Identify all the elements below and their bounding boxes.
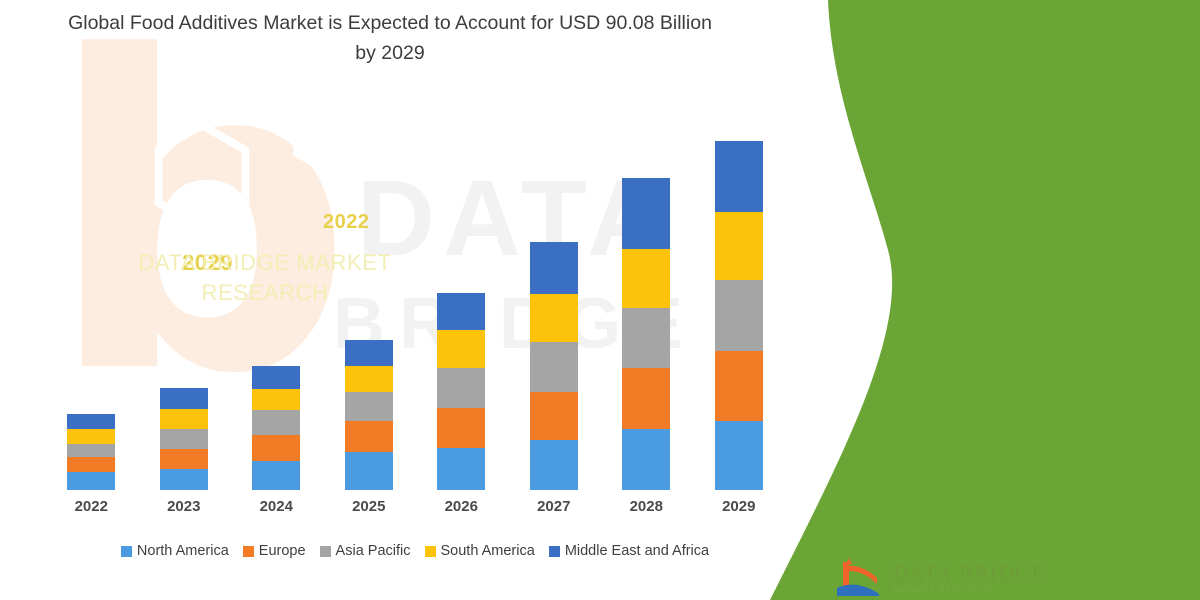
x-axis-tick: 2025 bbox=[329, 498, 409, 515]
legend-item[interactable]: North America bbox=[121, 543, 229, 559]
bar-column bbox=[530, 242, 578, 490]
bar-segment bbox=[67, 429, 115, 444]
logo-tagline: MARKET RESEARCH bbox=[893, 584, 993, 594]
legend-item[interactable]: South America bbox=[425, 543, 535, 559]
x-axis-tick: 2023 bbox=[144, 498, 224, 515]
bar-segment bbox=[252, 366, 300, 388]
chart-legend: North AmericaEuropeAsia PacificSouth Ame… bbox=[45, 540, 785, 562]
bar-segment bbox=[437, 408, 485, 448]
x-axis-tick: 2029 bbox=[699, 498, 779, 515]
x-axis-tick: 2027 bbox=[514, 498, 594, 515]
data-bridge-logo: DATA BRIDGE MARKET RESEARCH bbox=[835, 556, 1085, 598]
bar-column bbox=[437, 293, 485, 490]
legend-item[interactable]: Asia Pacific bbox=[320, 543, 411, 559]
bar-segment bbox=[67, 414, 115, 429]
legend-label: South America bbox=[441, 543, 535, 559]
bar-segment bbox=[345, 452, 393, 490]
bar-column bbox=[345, 340, 393, 490]
x-axis-tick: 2028 bbox=[606, 498, 686, 515]
bar-segment bbox=[67, 457, 115, 472]
x-axis-labels: 20222023202420252026202720282029 bbox=[45, 498, 785, 522]
legend-label: Europe bbox=[259, 543, 306, 559]
bar-segment bbox=[530, 440, 578, 490]
bar-segment bbox=[252, 389, 300, 411]
bar-segment bbox=[160, 388, 208, 410]
bar-segment bbox=[622, 178, 670, 249]
page-title: Global Food Additives Market is Expected… bbox=[60, 8, 720, 68]
legend-item[interactable]: Middle East and Africa bbox=[549, 543, 709, 559]
bar-segment bbox=[160, 429, 208, 449]
bar-segment bbox=[252, 435, 300, 461]
green-panel-shape bbox=[770, 0, 1200, 600]
bar-column bbox=[67, 414, 115, 490]
bar-segment bbox=[437, 368, 485, 408]
bar-column bbox=[622, 178, 670, 490]
bar-segment bbox=[345, 392, 393, 421]
bar-column bbox=[252, 366, 300, 490]
legend-swatch-icon bbox=[243, 546, 254, 557]
bar-segment bbox=[715, 212, 763, 281]
bar-segment bbox=[530, 242, 578, 294]
bar-segment bbox=[160, 469, 208, 490]
bar-column bbox=[715, 141, 763, 490]
infographic-canvas: b DATA BRIDGE Global Food Additives Mark… bbox=[0, 0, 1200, 600]
green-side-panel bbox=[770, 0, 1200, 600]
legend-label: North America bbox=[137, 543, 229, 559]
stacked-bar-chart bbox=[45, 120, 785, 490]
bar-segment bbox=[715, 280, 763, 351]
legend-swatch-icon bbox=[549, 546, 560, 557]
bar-segment bbox=[437, 330, 485, 368]
x-axis-tick: 2026 bbox=[421, 498, 501, 515]
x-axis-tick: 2022 bbox=[51, 498, 131, 515]
bar-segment bbox=[622, 249, 670, 308]
bar-segment bbox=[622, 308, 670, 369]
bar-segment bbox=[715, 351, 763, 421]
bar-segment bbox=[160, 449, 208, 470]
legend-item[interactable]: Europe bbox=[243, 543, 306, 559]
bar-segment bbox=[67, 472, 115, 490]
bar-segment bbox=[530, 294, 578, 342]
bar-segment bbox=[437, 293, 485, 329]
legend-label: Asia Pacific bbox=[336, 543, 411, 559]
bar-column bbox=[160, 388, 208, 490]
bar-segment bbox=[160, 409, 208, 429]
legend-swatch-icon bbox=[121, 546, 132, 557]
bar-segment bbox=[622, 368, 670, 429]
bar-segment bbox=[345, 340, 393, 366]
bar-segment bbox=[345, 366, 393, 393]
bridge-logo-icon bbox=[835, 556, 887, 596]
x-axis-tick: 2024 bbox=[236, 498, 316, 515]
bar-segment bbox=[252, 461, 300, 490]
legend-label: Middle East and Africa bbox=[565, 543, 709, 559]
bar-segment bbox=[67, 444, 115, 458]
bar-segment bbox=[622, 429, 670, 490]
logo-wordmark: DATA BRIDGE bbox=[893, 561, 1046, 586]
bar-segment bbox=[530, 342, 578, 392]
bar-segment bbox=[715, 421, 763, 490]
bar-segment bbox=[530, 392, 578, 440]
bar-segment bbox=[715, 141, 763, 212]
bar-segment bbox=[437, 448, 485, 490]
bar-segment bbox=[345, 421, 393, 452]
bar-segment bbox=[252, 410, 300, 435]
legend-swatch-icon bbox=[425, 546, 436, 557]
legend-swatch-icon bbox=[320, 546, 331, 557]
